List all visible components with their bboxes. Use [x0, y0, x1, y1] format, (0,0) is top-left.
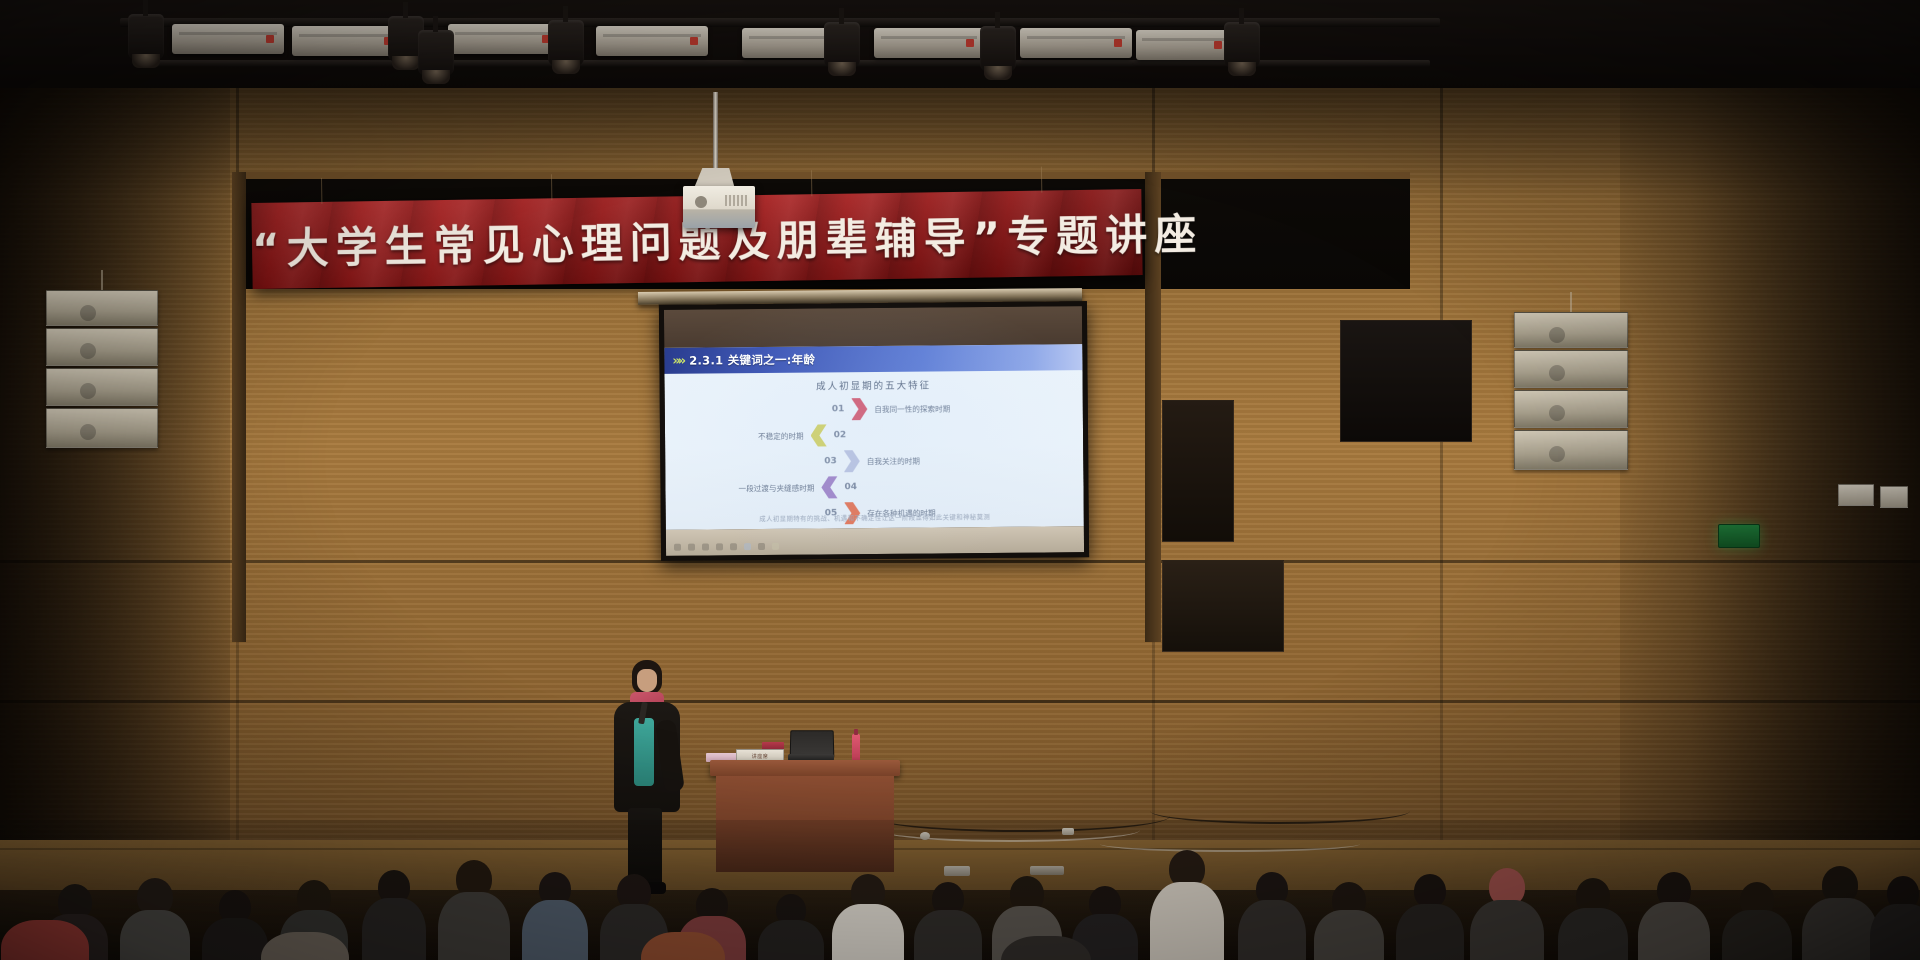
slide-caption: 成人初显期特有的挑战、机遇和不确定性让这一阶段显得如此关键和神秘莫测 [676, 511, 1074, 523]
audience-member [436, 860, 512, 960]
slide-item-03: 03 自我关注的时期 [824, 450, 920, 473]
slide-item-label: 自我同一性的探索时期 [874, 403, 950, 415]
audience-member [1236, 870, 1308, 960]
ceiling-light-panel [596, 26, 708, 56]
zigzag-mark-icon [811, 424, 827, 446]
ceiling-projector [683, 186, 755, 228]
proscenium-left-column [232, 172, 246, 642]
projector-lens-icon [695, 196, 707, 208]
slide-item-number: 04 [844, 482, 857, 492]
projector-mount-rod [713, 92, 718, 178]
audience-member [360, 870, 428, 960]
audience-member-front [0, 920, 90, 960]
slide-item-label: 不稳定的时期 [758, 430, 804, 441]
speaker-stack-right [1514, 312, 1626, 472]
ceiling-light-panel [448, 24, 560, 54]
projection-screen: »» 2.3.1 关键词之一:年龄 成人初显期的五大特征 01 自我同一性的探索… [659, 301, 1089, 561]
audience-member-front [1440, 932, 1532, 960]
ceiling-light-panel [292, 26, 402, 56]
slide-item-04: 一段过渡与夹缝感时期 04 [738, 476, 857, 499]
ceiling-light-panel [1020, 28, 1132, 58]
audience-member-front [640, 932, 726, 960]
ceiling-light-panel [172, 24, 284, 54]
slide-zigzag-diagram: 01 自我同一性的探索时期 不稳定的时期 02 03 自我关注的时期 [754, 393, 995, 525]
slide-item-01: 01 自我同一性的探索时期 [832, 397, 951, 420]
audience-member [118, 878, 192, 960]
audience-member-front [1000, 936, 1092, 960]
speaker-stack-left [46, 290, 156, 450]
water-bottle [852, 734, 860, 762]
audience-member [1868, 874, 1920, 960]
wall-seam [0, 700, 1920, 703]
presenter-head [632, 660, 662, 694]
slide-item-02: 不稳定的时期 02 [758, 424, 846, 447]
audience-member [912, 880, 984, 960]
presenter-face [637, 669, 657, 692]
audience-member [1636, 872, 1712, 960]
slide-title: 2.3.1 关键词之一:年龄 [689, 352, 815, 369]
projector-vent [725, 195, 747, 206]
wall-dark-recess [1162, 400, 1234, 542]
audience-member [756, 886, 826, 960]
wall-shadow-right [1620, 88, 1920, 878]
audience-section [0, 820, 1920, 960]
wall-seam [0, 560, 1920, 563]
wall-plate [1880, 486, 1908, 508]
stage-spotlight [1224, 22, 1260, 68]
wall-dark-recess [1340, 320, 1472, 442]
zigzag-mark-icon [821, 476, 837, 498]
wall-dark-recess [1162, 560, 1284, 652]
slide-item-number: 03 [824, 456, 837, 466]
slide-item-label: 一段过渡与夹缝感时期 [738, 482, 814, 494]
presenter-inner-garment [634, 718, 654, 786]
audience-member [1312, 878, 1386, 960]
slide-item-label: 自我关注的时期 [867, 455, 920, 466]
stage-spotlight [418, 30, 454, 76]
audience-member [1556, 876, 1630, 960]
audience-member [830, 874, 906, 960]
wall-shadow-left [0, 88, 230, 878]
wall-plate [1838, 484, 1874, 506]
slide-item-number: 01 [832, 404, 845, 414]
audience-member-front [260, 932, 350, 960]
audience-member [1148, 850, 1226, 960]
audience-member [520, 870, 590, 960]
slide-item-number: 02 [834, 430, 847, 440]
stage-spotlight [824, 22, 860, 68]
taskbar-icons [674, 543, 779, 551]
screen-bottom-border [666, 526, 1084, 556]
wall-vertical-seam [1440, 88, 1443, 878]
screen-top-border [664, 306, 1082, 348]
ceiling-light-panel [874, 28, 984, 58]
stage-spotlight [128, 14, 164, 60]
slide-header-bar: »» 2.3.1 关键词之一:年龄 [664, 344, 1082, 374]
table-top [710, 760, 900, 776]
zigzag-mark-icon [844, 450, 860, 472]
zigzag-mark-icon [851, 398, 867, 420]
audience-member [1720, 878, 1794, 960]
stage-spotlight [548, 20, 584, 66]
presentation-slide: »» 2.3.1 关键词之一:年龄 成人初显期的五大特征 01 自我同一性的探索… [664, 344, 1084, 530]
ceiling-light-panel [1136, 30, 1232, 60]
stage-spotlight [980, 26, 1016, 72]
exit-sign [1718, 524, 1760, 548]
double-chevron-right-icon: »» [672, 353, 683, 368]
slide-heading: 成人初显期的五大特征 [665, 376, 1083, 394]
lecture-hall-scene: “大学生常见心理问题及朋辈辅导”专题讲座 »» 2.3.1 关键词之一:年龄 成… [0, 0, 1920, 960]
